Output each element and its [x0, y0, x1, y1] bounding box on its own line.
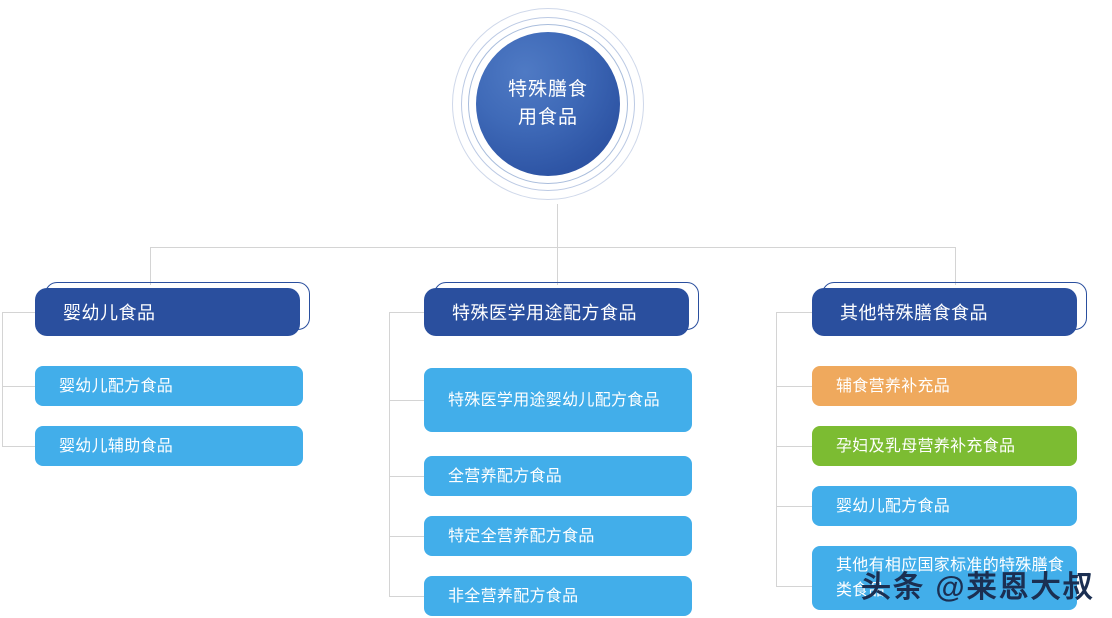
leaf-label: 非全营养配方食品 [448, 584, 578, 609]
connector-column-2-to-header [389, 312, 424, 313]
leaf-label: 特殊医学用途婴幼儿配方食品 [448, 388, 660, 413]
leaf-box[interactable]: 婴幼儿辅助食品 [35, 426, 303, 466]
leaf-box[interactable]: 特定全营养配方食品 [424, 516, 692, 556]
root-node-circle: 特殊膳食 用食品 [476, 32, 620, 176]
connector-column-3-to-item-3 [776, 506, 812, 507]
connector-column-3-to-header [776, 312, 812, 313]
connector-column-1-to-item-2 [2, 446, 35, 447]
leaf-label: 全营养配方食品 [448, 464, 562, 489]
column-header-3-label-box: 其他特殊膳食食品 [812, 288, 1077, 336]
column-header-3[interactable]: 其他特殊膳食食品 [812, 288, 1077, 336]
connector-column-2-to-item-4 [389, 596, 424, 597]
leaf-box[interactable]: 全营养配方食品 [424, 456, 692, 496]
connector-column-2-to-item-1 [389, 400, 424, 401]
root-node: 特殊膳食 用食品 [448, 4, 668, 204]
connector-to-column-1 [150, 247, 151, 285]
connector-top-bus [150, 247, 956, 248]
connector-column-1-to-item-1 [2, 386, 35, 387]
column-header-3-label: 其他特殊膳食食品 [840, 299, 988, 325]
column-header-2[interactable]: 特殊医学用途配方食品 [424, 288, 689, 336]
leaf-label: 辅食营养补充品 [836, 374, 950, 399]
leaf-box[interactable]: 其他有相应国家标准的特殊膳食类食品 [812, 546, 1077, 610]
leaf-box[interactable]: 辅食营养补充品 [812, 366, 1077, 406]
root-label-line2: 用食品 [508, 104, 588, 132]
connector-column-3-spine [776, 312, 777, 586]
diagram-canvas: 特殊膳食 用食品 婴幼儿食品 婴幼儿配方食品 婴幼儿辅助食品 特殊医学用途配方食… [0, 0, 1112, 618]
leaf-label: 婴幼儿配方食品 [836, 494, 950, 519]
leaf-label: 婴幼儿辅助食品 [59, 434, 173, 459]
connector-column-3-to-item-4 [776, 586, 812, 587]
connector-column-1-to-header [2, 312, 35, 313]
column-header-2-label: 特殊医学用途配方食品 [452, 299, 637, 325]
leaf-box[interactable]: 非全营养配方食品 [424, 576, 692, 616]
column-header-2-label-box: 特殊医学用途配方食品 [424, 288, 689, 336]
connector-column-1-spine [2, 312, 3, 446]
connector-column-3-to-item-2 [776, 446, 812, 447]
leaf-box[interactable]: 特殊医学用途婴幼儿配方食品 [424, 368, 692, 432]
connector-root-stem [557, 204, 558, 248]
connector-column-2-to-item-3 [389, 536, 424, 537]
leaf-box[interactable]: 婴幼儿配方食品 [812, 486, 1077, 526]
column-header-1-label: 婴幼儿食品 [63, 299, 156, 325]
connector-column-3-to-item-1 [776, 386, 812, 387]
column-header-1-label-box: 婴幼儿食品 [35, 288, 300, 336]
leaf-label: 其他有相应国家标准的特殊膳食类食品 [836, 553, 1067, 603]
column-header-1[interactable]: 婴幼儿食品 [35, 288, 300, 336]
connector-to-column-3 [955, 247, 956, 285]
connector-to-column-2 [557, 247, 558, 285]
connector-column-2-spine [389, 312, 390, 596]
leaf-label: 特定全营养配方食品 [448, 524, 595, 549]
leaf-box[interactable]: 孕妇及乳母营养补充食品 [812, 426, 1077, 466]
leaf-label: 婴幼儿配方食品 [59, 374, 173, 399]
leaf-label: 孕妇及乳母营养补充食品 [836, 434, 1015, 459]
root-label-line1: 特殊膳食 [508, 76, 588, 104]
leaf-box[interactable]: 婴幼儿配方食品 [35, 366, 303, 406]
connector-column-2-to-item-2 [389, 476, 424, 477]
